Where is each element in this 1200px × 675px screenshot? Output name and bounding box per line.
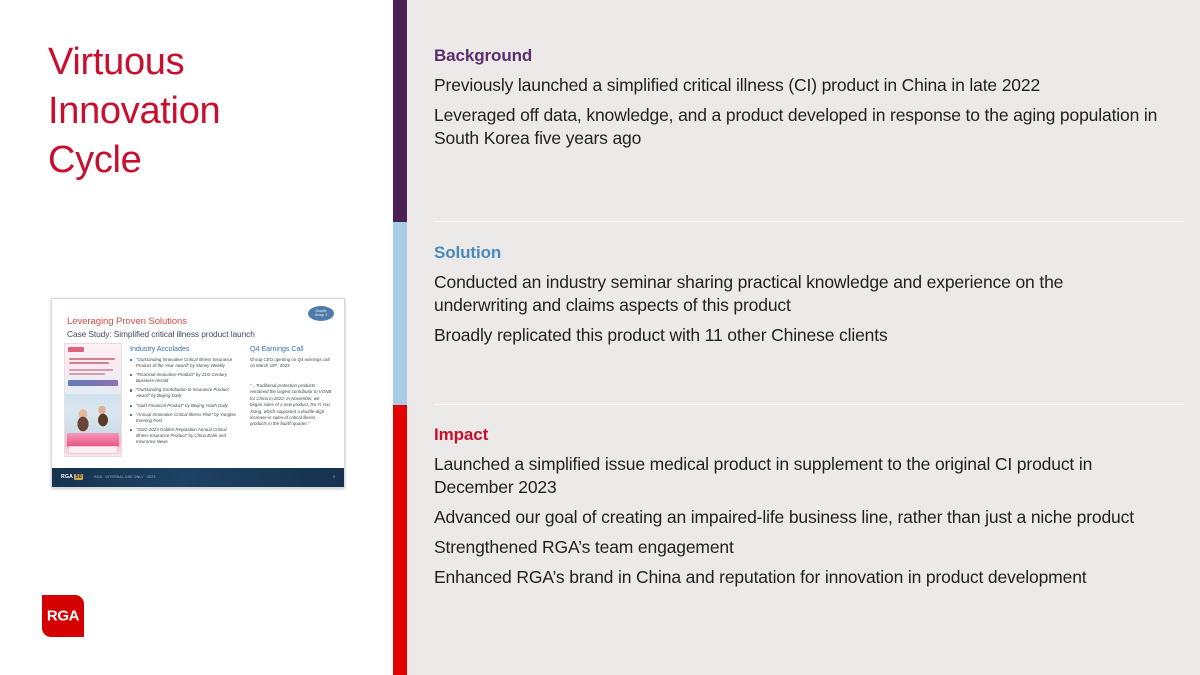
bullet-text: Conducted an industry seminar sharing pr… — [434, 271, 1160, 317]
section-solution: Solution Conducted an industry seminar s… — [434, 243, 1160, 347]
marketing-poster-image — [64, 343, 122, 457]
thumbnail-earnings-intro: Group CEO opening on Q4 earnings call on… — [250, 357, 332, 370]
thumbnail-footer-page-number: 5 — [333, 475, 335, 479]
bullet-text: Launched a simplified issue medical prod… — [434, 453, 1160, 499]
thumbnail-title: Leveraging Proven Solutions — [67, 316, 187, 327]
thumbnail-footer-logo-text: RGA — [61, 474, 73, 480]
slide-root: Virtuous Innovation Cycle Leveraging Pro… — [0, 0, 1200, 675]
accent-bar-background — [393, 0, 407, 222]
thumbnail-earnings-heading: Q4 Earnings Call — [250, 344, 304, 353]
thumbnail-group-badge: Growth Group 3 — [308, 306, 334, 321]
section-heading-background: Background — [434, 46, 1160, 66]
page-title: Virtuous Innovation Cycle — [48, 38, 368, 185]
bullet-text: Leveraged off data, knowledge, and a pro… — [434, 104, 1160, 150]
list-item: “Outstanding Innovative Critical Illness… — [130, 357, 238, 369]
bullet-text: Enhanced RGA’s brand in China and reputa… — [434, 566, 1160, 589]
list-item: “Gold Financial Product” by Beijing Yout… — [130, 403, 238, 409]
thumbnail-earnings-quote: “…Traditional protection products remain… — [250, 383, 332, 428]
bullet-text: Previously launched a simplified critica… — [434, 74, 1160, 97]
left-panel: Virtuous Innovation Cycle Leveraging Pro… — [0, 0, 393, 675]
reference-slide-thumbnail[interactable]: Leveraging Proven Solutions Case Study: … — [51, 298, 345, 488]
section-impact: Impact Launched a simplified issue medic… — [434, 425, 1160, 589]
poster-couple-photo — [65, 394, 121, 436]
content-panel: Background Previously launched a simplif… — [393, 0, 1200, 675]
thumbnail-canvas: Leveraging Proven Solutions Case Study: … — [52, 299, 344, 487]
poster-text-line — [69, 362, 109, 364]
thumbnail-footer-bar: RGA50 RGA · INTERNAL USE ONLY · 2023 5 — [52, 468, 344, 487]
thumbnail-footer-logo: RGA50 — [61, 474, 83, 480]
poster-cta-banner — [67, 433, 119, 447]
thumbnail-accolades-list: “Outstanding Innovative Critical Illness… — [130, 357, 238, 448]
list-item: “Annual Innovative Critical Illness Plan… — [130, 412, 238, 424]
section-divider — [434, 404, 1184, 405]
bullet-text: Advanced our goal of creating an impaire… — [434, 506, 1160, 529]
thumbnail-footer-logo-mark: 50 — [74, 474, 83, 480]
thumbnail-footer-meta: RGA · INTERNAL USE ONLY · 2023 — [94, 475, 155, 479]
bullet-text: Broadly replicated this product with 11 … — [434, 324, 1160, 347]
accent-bar-solution — [393, 222, 407, 405]
bullet-text: Strengthened RGA’s team engagement — [434, 536, 1160, 559]
poster-highlight-band — [68, 380, 118, 386]
poster-text-line — [69, 358, 115, 360]
rga-logo: RGA — [42, 595, 84, 637]
section-heading-impact: Impact — [434, 425, 1160, 445]
section-background: Background Previously launched a simplif… — [434, 46, 1160, 150]
section-heading-solution: Solution — [434, 243, 1160, 263]
thumbnail-subtitle: Case Study: Simplified critical illness … — [67, 329, 255, 339]
poster-footer-strip — [68, 446, 118, 454]
rga-logo-text: RGA — [42, 608, 84, 625]
poster-text-line — [69, 373, 105, 375]
thumbnail-accolades-heading: Industry Accolades — [130, 344, 189, 353]
section-divider — [434, 221, 1184, 222]
list-item: “Financial Innovative Product” by 21st C… — [130, 372, 238, 384]
list-item: “Outstanding Contribution to Insurance P… — [130, 387, 238, 399]
poster-logo — [68, 347, 84, 352]
poster-text-line — [69, 369, 113, 371]
list-item: “2022-2023 Golden Reputation Annual Crit… — [130, 427, 238, 445]
accent-bar-impact — [393, 405, 407, 675]
